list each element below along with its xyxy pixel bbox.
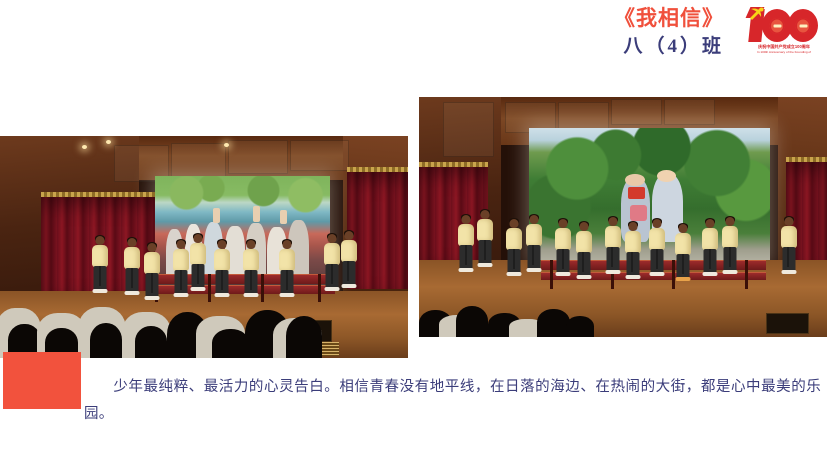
led-student-face-right xyxy=(657,170,676,182)
performer-legs xyxy=(459,245,472,269)
performer-legs xyxy=(676,254,689,278)
performer-torso xyxy=(458,224,474,246)
performer-torso xyxy=(190,243,206,265)
performer-shoes xyxy=(781,270,796,274)
wall-panel xyxy=(228,140,287,173)
wall-panel xyxy=(290,140,349,171)
performer-torso xyxy=(144,252,160,274)
performer-legs xyxy=(606,247,619,271)
led-raised-hand xyxy=(253,206,260,222)
performer-torso xyxy=(625,231,641,253)
performer-torso xyxy=(675,233,691,255)
performer-head xyxy=(628,222,637,231)
performer-legs xyxy=(557,249,570,273)
wall-panel xyxy=(611,99,662,125)
audience-member xyxy=(90,323,123,358)
performer xyxy=(778,217,799,277)
performer-head xyxy=(726,217,735,226)
curtain-trim-left xyxy=(41,192,155,197)
auditorium-scene-right xyxy=(419,97,827,337)
performer xyxy=(701,219,720,275)
led-bag xyxy=(630,205,647,221)
ceiling-light xyxy=(82,145,87,149)
emblem-chinese-caption: 庆祝中国共产党成立100周年 xyxy=(748,44,820,49)
emblem-english-caption: In 100th Anniversary of the Founding of xyxy=(748,50,820,54)
hammer-and-sickle-icon xyxy=(748,6,765,21)
performer-head xyxy=(653,219,662,228)
emblem-zero-inner-second xyxy=(796,18,811,34)
performer xyxy=(474,210,496,274)
performer-legs xyxy=(704,249,717,273)
performer-shoes xyxy=(723,270,738,274)
performer-torso xyxy=(341,240,357,262)
performer xyxy=(456,215,476,273)
performer-torso xyxy=(477,219,493,241)
performer-shoes xyxy=(526,268,541,272)
performer-head xyxy=(283,240,292,249)
performer-head xyxy=(608,217,617,226)
led-raised-hand xyxy=(280,210,287,224)
performer-head xyxy=(193,234,202,243)
performer-legs xyxy=(651,249,664,273)
performer-torso xyxy=(781,226,797,248)
audience-silhouettes xyxy=(419,299,827,337)
caption-text: 少年最纯粹、最活力的心灵告白。相信青春没有地平线，在日落的海边、在热闹的大街，都… xyxy=(84,374,821,428)
performer-torso xyxy=(722,226,738,248)
performer-head xyxy=(246,240,255,249)
performer-head xyxy=(529,215,538,224)
performer-legs xyxy=(626,252,639,276)
performer-shoes xyxy=(507,272,522,276)
performer-legs xyxy=(479,240,492,264)
performer-head xyxy=(706,219,715,228)
audience-member xyxy=(212,329,249,358)
performer-legs xyxy=(782,247,795,271)
performer-torso xyxy=(124,247,140,269)
red-decorative-square xyxy=(3,352,81,409)
performer-head xyxy=(481,210,490,219)
wall-panel xyxy=(171,143,226,178)
performer-shoes xyxy=(703,272,718,276)
performer-torso xyxy=(214,249,230,271)
performer-soloist xyxy=(672,224,694,286)
performer xyxy=(505,219,524,273)
photo-right-stage-performance xyxy=(419,97,827,337)
performer-legs xyxy=(527,245,540,269)
performer-torso xyxy=(555,228,571,250)
curtain-trim-right xyxy=(786,157,827,162)
page-header: 《我相信》 八（4）班 庆祝中国共产党成立100周年 In 100th Anni… xyxy=(0,0,827,92)
riser-leg xyxy=(745,260,748,289)
performer xyxy=(603,217,623,277)
led-student-face-left xyxy=(625,174,644,186)
riser-leg xyxy=(550,260,553,289)
class-name: 八（4）班 xyxy=(424,32,724,62)
caption-body: 少年最纯粹、最活力的心灵告白。相信青春没有地平线，在日落的海边、在热闹的大街，都… xyxy=(84,379,821,422)
performer-torso xyxy=(279,249,295,271)
performer-torso xyxy=(702,228,718,250)
wall-panel xyxy=(443,102,494,157)
performer-head xyxy=(510,219,519,228)
performer-torso xyxy=(526,224,542,246)
performer-head xyxy=(128,238,137,247)
audience-member xyxy=(135,326,168,358)
wall-panel xyxy=(558,102,609,130)
performer xyxy=(574,222,593,277)
audience-member xyxy=(456,306,489,337)
performer xyxy=(721,217,740,273)
auditorium-scene-left xyxy=(0,136,408,358)
performer-head xyxy=(328,234,337,243)
emblem-artwork xyxy=(748,7,820,44)
performer xyxy=(554,219,573,274)
performer-torso xyxy=(576,231,592,253)
photo-left-stage-performance xyxy=(0,136,408,358)
performer-shoes xyxy=(675,277,690,281)
performer-shoes xyxy=(556,272,571,276)
performer-head xyxy=(579,222,588,231)
performer-torso xyxy=(243,249,259,271)
emblem-digit-zero-second xyxy=(788,9,818,42)
audience-member xyxy=(286,316,323,358)
performer-head xyxy=(218,240,227,249)
curtain-trim-left xyxy=(419,162,488,167)
performer xyxy=(647,219,667,277)
emblem-zero-inner-first xyxy=(770,18,785,34)
performer-head xyxy=(95,236,104,245)
audience-silhouettes xyxy=(0,278,408,358)
performer-head xyxy=(344,231,353,240)
performer-torso xyxy=(649,228,665,250)
performer-shoes xyxy=(458,268,473,272)
performer-head xyxy=(559,219,568,228)
performer-legs xyxy=(724,247,737,271)
performer-legs xyxy=(508,249,521,273)
performer-shoes xyxy=(650,272,665,276)
cpc-100th-anniversary-emblem: 庆祝中国共产党成立100周年 In 100th Anniversary of t… xyxy=(748,7,820,59)
performer-shoes xyxy=(605,270,620,274)
led-red-scarf xyxy=(628,187,645,199)
performer-head xyxy=(678,224,687,233)
performer-shoes xyxy=(625,275,640,279)
performer-shoes xyxy=(576,275,591,279)
curtain-trim-right xyxy=(347,167,408,172)
audience-member xyxy=(566,316,595,337)
performer-head xyxy=(177,240,186,249)
performer-torso xyxy=(605,226,621,248)
song-title: 《我相信》 xyxy=(424,4,724,32)
performer-head xyxy=(461,215,470,224)
performer-legs xyxy=(577,252,590,276)
performer xyxy=(523,215,544,275)
performer-head xyxy=(147,243,156,252)
performer-torso xyxy=(506,228,522,250)
performer-shoes xyxy=(478,263,493,267)
wall-panel xyxy=(664,99,715,125)
header-title-block: 《我相信》 八（4）班 xyxy=(424,4,724,62)
led-raised-hand xyxy=(213,208,220,222)
performer-torso xyxy=(92,245,108,267)
performer xyxy=(623,222,642,279)
performer-head xyxy=(784,217,793,226)
